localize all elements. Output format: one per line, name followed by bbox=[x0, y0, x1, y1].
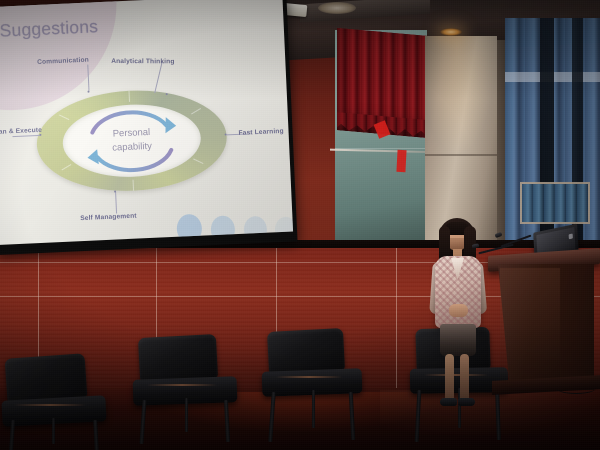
label-self-management: Self Management bbox=[80, 213, 137, 223]
left-leg bbox=[445, 354, 454, 402]
ceiling-light bbox=[440, 28, 462, 36]
floor-cable bbox=[556, 382, 596, 394]
panel-seam bbox=[396, 248, 397, 393]
hands bbox=[449, 304, 468, 317]
label-analytical-thinking: Analytical Thinking bbox=[111, 58, 174, 65]
podium-front-panel bbox=[500, 268, 560, 386]
right-shoe bbox=[458, 398, 475, 406]
laptop-hinge-badge bbox=[569, 233, 573, 239]
leader-dot bbox=[39, 134, 41, 136]
leader-line bbox=[115, 191, 117, 213]
slide-surface: Suggestions bbox=[0, 0, 293, 245]
capability-ring-diagram: Personal capability bbox=[35, 86, 229, 195]
presentation-room-photo: Suggestions bbox=[0, 0, 600, 450]
ring-center-label: Personal capability bbox=[61, 102, 202, 180]
skirt bbox=[440, 324, 476, 356]
chair bbox=[133, 336, 255, 450]
chair bbox=[262, 330, 378, 450]
pillar-light-glow bbox=[425, 36, 497, 156]
leader-dot bbox=[87, 91, 89, 93]
upper-window bbox=[520, 182, 590, 224]
screen-border: Suggestions bbox=[0, 0, 298, 255]
decor-bubble bbox=[243, 216, 267, 244]
presenter bbox=[427, 218, 489, 414]
red-flag-marker bbox=[396, 150, 406, 172]
right-leg bbox=[460, 354, 469, 402]
leader-dot bbox=[114, 190, 116, 192]
ring-center-line2: capability bbox=[112, 140, 152, 156]
slide-title: Suggestions bbox=[0, 16, 99, 41]
leader-dot bbox=[166, 93, 168, 95]
chair bbox=[2, 356, 122, 450]
decor-bubble bbox=[176, 214, 202, 244]
decor-bubble bbox=[274, 216, 293, 243]
ceiling-light-far bbox=[318, 2, 356, 14]
label-fast-learning: Fast Learning bbox=[238, 128, 283, 137]
left-shoe bbox=[440, 398, 457, 406]
projection-screen: Suggestions bbox=[0, 0, 311, 259]
leader-dot bbox=[225, 133, 227, 135]
decor-bubble bbox=[210, 215, 235, 244]
